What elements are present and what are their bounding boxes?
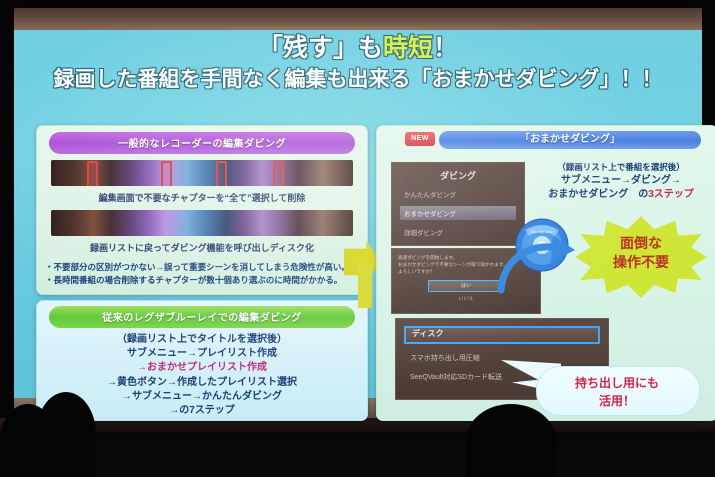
tv-menu-title: ダビング xyxy=(392,169,524,182)
dialog-yes-button[interactable]: はい xyxy=(428,280,504,292)
legacy-step-highlight: →おまかせプレイリスト作成 xyxy=(37,361,367,375)
drawback-item: ・長時間番組の場合削除するチャプターが数十個あり選ぶのに時間がかかる。 xyxy=(45,274,359,287)
new-badge: NEW xyxy=(405,132,435,146)
screen-top-border xyxy=(14,8,702,30)
chapter-marker xyxy=(87,161,98,186)
filmstrip-after-edit xyxy=(51,210,353,236)
filmstrip-before-edit xyxy=(51,160,353,186)
audience-silhouette xyxy=(466,404,556,477)
headline-accent: 時短 xyxy=(383,34,433,62)
filmstrip-caption-2: 録画リストに戻ってダビング機能を呼び出しディスク化 xyxy=(47,241,357,254)
starburst-text: 面倒な 操作不要 xyxy=(575,234,707,272)
legacy-step: →サブメニュー→かんたんダビング xyxy=(37,390,367,404)
filmstrip-caption-1: 編集画面で不要なチャプターを“全て”選択して削除 xyxy=(47,191,357,204)
drawback-item: ・不要部分の区別がつかない→誤って重要シーンを消してしまう危険性が高い。 xyxy=(45,261,359,274)
headline-main-2: ！ xyxy=(433,34,458,62)
callout-bubble-text: 持ち出し用にも 活用！ xyxy=(536,374,698,410)
panel-conventional-recorder: 一般的なレコーダーの編集ダビング 編集画面で不要なチャプターを“全て”選択して削… xyxy=(36,125,368,295)
tv-menu-item-omakase[interactable]: おまかせダビング xyxy=(400,206,516,220)
audience-silhouette xyxy=(0,404,56,477)
starburst-line-1: 面倒な xyxy=(575,234,707,253)
curved-arrow-icon xyxy=(495,234,585,294)
output-item-smartphone[interactable]: スマホ持ち出し用圧縮 xyxy=(404,353,600,363)
conventional-drawbacks: ・不要部分の区別がつかない→誤って重要シーンを消してしまう危険性が高い。 ・長時… xyxy=(45,261,359,287)
starburst-line-2: 操作不要 xyxy=(575,253,707,272)
three-steps-line-2-pre: おまかせダビング の xyxy=(548,189,648,200)
three-steps-text: （録画リスト上で番組を選択後） サブメニュー→ダビング→ おまかせダビング の3… xyxy=(529,162,713,201)
legacy-step: サブメニュー→プレイリスト作成 xyxy=(37,347,367,361)
headline-line-1: 「残す」も時短！ xyxy=(14,34,702,62)
headline-main-1: 「残す」も xyxy=(258,34,383,62)
screenshot-root: 「残す」も時短！ 録画した番組を手間なく編集も出来る「おまかせダビング」！！ 一… xyxy=(0,0,715,477)
callout-line-1: 持ち出し用にも xyxy=(536,374,698,392)
panel-new-header: 「おまかせダビング」 xyxy=(439,131,701,149)
three-steps-line-1: サブメニュー→ダビング→ xyxy=(529,174,713,188)
three-steps-note: （録画リスト上で番組を選択後） xyxy=(529,162,713,174)
tv-menu-item-kantan[interactable]: かんたんダビング xyxy=(400,187,516,201)
legacy-step: （録画リスト上でタイトルを選択後） xyxy=(37,333,367,347)
callout-line-2: 活用！ xyxy=(536,392,698,410)
arrow-accent-chip xyxy=(358,264,372,308)
three-steps-line-2: おまかせダビング の3ステップ xyxy=(529,188,713,202)
slide-headline: 「残す」も時短！ 録画した番組を手間なく編集も出来る「おまかせダビング」！！ xyxy=(14,34,702,92)
projection-screen: 「残す」も時短！ 録画した番組を手間なく編集も出来る「おまかせダビング」！！ 一… xyxy=(14,8,702,418)
legacy-step: →黄色ボタン→作成したプレイリスト選択 xyxy=(37,376,367,390)
panel-new-header-row: NEW 「おまかせダビング」 xyxy=(387,131,707,153)
three-steps-accent: 3ステップ xyxy=(648,189,694,200)
chapter-marker xyxy=(161,161,172,186)
dialog-no-button[interactable]: いいえ xyxy=(429,295,503,302)
output-item-disc[interactable]: ディスク xyxy=(404,326,600,344)
chapter-marker xyxy=(273,161,284,186)
panel-legacy-header: 従来のレグザブルーレイでの編集ダビング xyxy=(49,306,355,328)
room-floor xyxy=(0,430,715,477)
chapter-marker xyxy=(216,161,227,186)
panel-conventional-header: 一般的なレコーダーの編集ダビング xyxy=(49,132,355,154)
headline-line-2: 録画した番組を手間なく編集も出来る「おまかせダビング」！！ xyxy=(14,68,702,92)
